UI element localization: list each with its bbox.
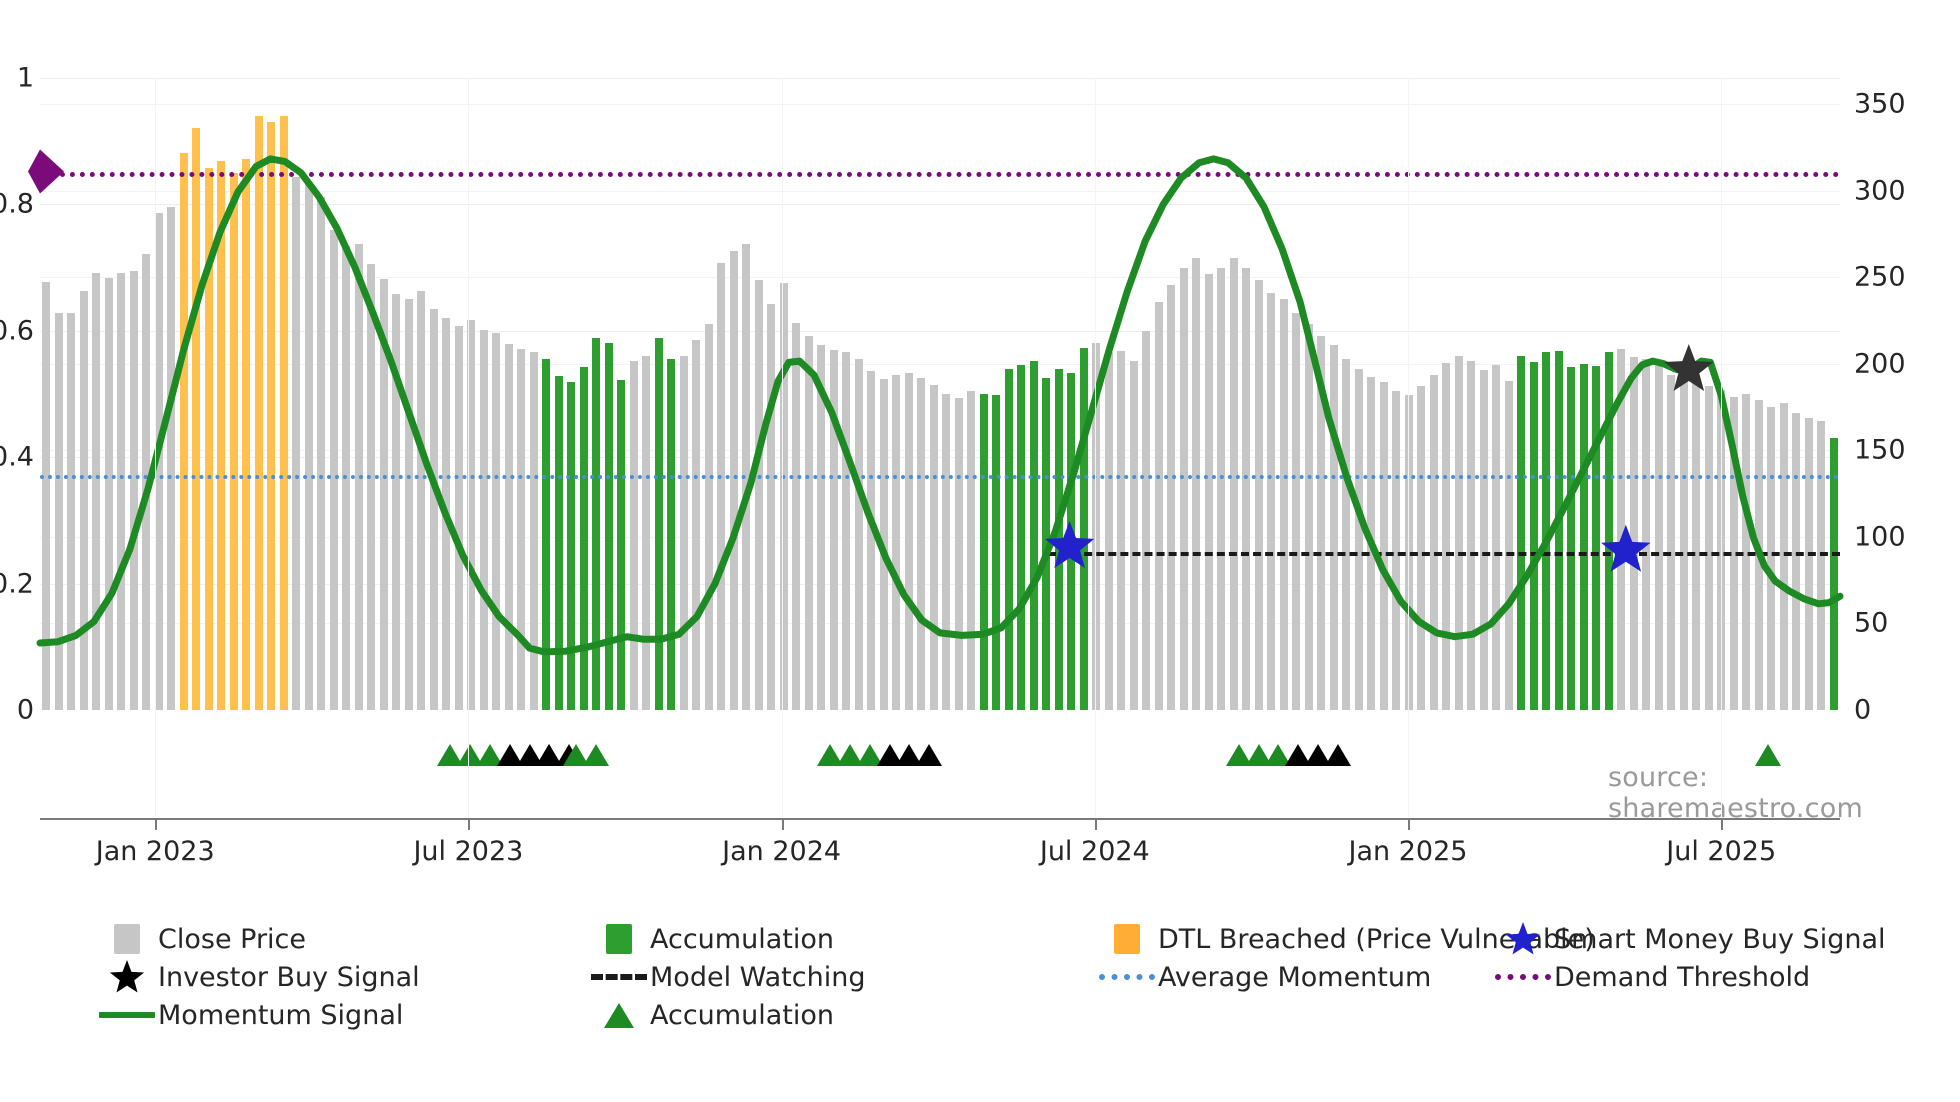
price-bar[interactable] (317, 197, 325, 710)
reference-line-demand-threshold (40, 172, 1840, 177)
price-bar[interactable] (405, 299, 413, 710)
price-bar[interactable] (1442, 363, 1450, 710)
price-bar[interactable] (80, 291, 88, 710)
price-bar[interactable] (517, 349, 525, 711)
price-bar[interactable] (1092, 343, 1100, 710)
x-axis-tick (1721, 818, 1723, 830)
legend-accumulation-marker[interactable]: Accumulation (588, 996, 834, 1034)
price-bar[interactable] (767, 304, 775, 710)
price-bar[interactable] (55, 313, 63, 710)
legend-star-icon (107, 959, 147, 995)
price-bar[interactable] (1105, 352, 1113, 710)
price-bar[interactable] (280, 116, 288, 710)
price-bar[interactable] (692, 340, 700, 710)
price-bar[interactable] (1192, 258, 1200, 710)
price-bar[interactable] (1117, 351, 1125, 710)
x-axis-tick-label: Jul 2025 (1666, 836, 1776, 867)
legend-label: Close Price (158, 924, 306, 955)
price-bar[interactable] (1792, 413, 1800, 710)
price-bar[interactable] (305, 184, 313, 710)
price-bar[interactable] (855, 359, 863, 710)
price-bar[interactable] (567, 382, 575, 710)
accumulation-triangle-marker[interactable] (1325, 744, 1351, 766)
price-bar[interactable] (1492, 365, 1500, 710)
price-bar[interactable] (1242, 268, 1250, 710)
price-bar[interactable] (1592, 366, 1600, 710)
price-bar[interactable] (667, 359, 675, 710)
price-bar[interactable] (867, 371, 875, 710)
price-bar[interactable] (205, 168, 213, 710)
price-bar[interactable] (1542, 352, 1550, 710)
price-bar[interactable] (1267, 293, 1275, 710)
left-axis: 00.20.40.60.81 (0, 78, 38, 710)
gridline-v (782, 78, 783, 818)
accumulation-triangle-marker[interactable] (583, 744, 609, 766)
price-bar[interactable] (1605, 352, 1613, 710)
right-axis-tick: 250 (1854, 262, 1906, 293)
price-bar[interactable] (1517, 356, 1525, 710)
price-bar[interactable] (1342, 359, 1350, 710)
price-bar[interactable] (1330, 345, 1338, 710)
price-bar[interactable] (105, 278, 113, 710)
price-bar[interactable] (817, 345, 825, 710)
price-bar[interactable] (1467, 361, 1475, 710)
right-axis-tick: 350 (1854, 88, 1906, 119)
x-axis-tick-label: Jan 2025 (1349, 836, 1468, 867)
legend-label: Investor Buy Signal (158, 962, 420, 993)
price-bar[interactable] (642, 356, 650, 710)
price-bar[interactable] (1767, 407, 1775, 710)
plot-area (40, 78, 1840, 710)
source-note: source: sharemaestro.com (1608, 762, 1960, 824)
x-axis-tick (1095, 818, 1097, 830)
price-bar[interactable] (1642, 359, 1650, 710)
price-bar[interactable] (630, 361, 638, 710)
price-bar[interactable] (1530, 362, 1538, 710)
right-axis-tick: 150 (1854, 435, 1906, 466)
price-bar[interactable] (142, 254, 150, 710)
right-axis-tick: 0 (1854, 695, 1871, 726)
legend-demand-threshold[interactable]: Demand Threshold (1492, 958, 1810, 996)
left-axis-tick: 0.8 (0, 189, 34, 220)
price-bar[interactable] (755, 280, 763, 710)
price-bar[interactable] (1567, 367, 1575, 710)
chart-legend: Close PriceAccumulationDTL Breached (Pri… (96, 920, 1896, 1034)
price-bar[interactable] (1017, 365, 1025, 710)
x-axis-tick (468, 818, 470, 830)
price-bar[interactable] (930, 385, 938, 710)
legend-smart-money-buy-signal[interactable]: Smart Money Buy Signal (1492, 920, 1886, 958)
price-bar[interactable] (892, 375, 900, 710)
price-bar[interactable] (442, 318, 450, 710)
price-bar[interactable] (1230, 258, 1238, 711)
price-bar[interactable] (580, 367, 588, 710)
price-bar[interactable] (1780, 403, 1788, 710)
price-bar[interactable] (1705, 386, 1713, 710)
gridline-v (1721, 78, 1722, 818)
price-bar[interactable] (1205, 274, 1213, 710)
price-bar[interactable] (1217, 268, 1225, 710)
price-bar[interactable] (67, 313, 75, 710)
legend-row: Close PriceAccumulationDTL Breached (Pri… (96, 920, 1896, 958)
price-bar[interactable] (792, 323, 800, 710)
accumulation-triangle-marker[interactable] (916, 744, 942, 766)
reference-line-average-momentum (40, 475, 1840, 479)
x-axis-tick-label: Jul 2023 (413, 836, 523, 867)
price-bar[interactable] (1030, 361, 1038, 710)
price-bar[interactable] (480, 330, 488, 710)
price-bar[interactable] (917, 378, 925, 710)
price-bar[interactable] (942, 394, 950, 710)
right-axis-tick: 200 (1854, 348, 1906, 379)
price-bar[interactable] (455, 326, 463, 710)
price-bar[interactable] (1255, 280, 1263, 710)
price-bar[interactable] (717, 263, 725, 710)
x-axis-tick (782, 818, 784, 830)
legend-label: Average Momentum (1158, 962, 1431, 993)
legend-average-momentum[interactable]: Average Momentum (1096, 958, 1431, 996)
x-axis-tick-label: Jan 2023 (96, 836, 215, 867)
price-bar[interactable] (1480, 370, 1488, 710)
price-bar[interactable] (192, 128, 200, 710)
legend-row: Momentum SignalAccumulation (96, 996, 1896, 1034)
price-bar[interactable] (880, 379, 888, 710)
price-bar[interactable] (1617, 349, 1625, 711)
price-bar[interactable] (617, 380, 625, 710)
price-bar[interactable] (1317, 336, 1325, 710)
price-bar[interactable] (130, 271, 138, 710)
left-axis-tick: 0.6 (0, 315, 34, 346)
price-bar[interactable] (292, 177, 300, 710)
gridline-v (155, 78, 156, 818)
price-bar[interactable] (1430, 375, 1438, 710)
price-bar[interactable] (1830, 438, 1838, 710)
price-bar[interactable] (180, 153, 188, 710)
price-bar[interactable] (830, 350, 838, 710)
price-bar[interactable] (392, 294, 400, 710)
price-bar[interactable] (1280, 299, 1288, 710)
price-bar[interactable] (842, 352, 850, 710)
x-axis-tick-label: Jan 2024 (722, 836, 841, 867)
price-bar[interactable] (1305, 324, 1313, 710)
legend-investor-buy-signal[interactable]: Investor Buy Signal (96, 958, 420, 996)
price-bar[interactable] (1580, 364, 1588, 710)
price-bar[interactable] (242, 159, 250, 710)
price-bar[interactable] (1417, 386, 1425, 710)
legend-star-icon (1503, 921, 1543, 957)
left-axis-tick: 1 (17, 63, 34, 94)
price-bar[interactable] (1630, 357, 1638, 710)
legend-close-price[interactable]: Close Price (96, 920, 306, 958)
price-bar[interactable] (1680, 371, 1688, 710)
price-bar[interactable] (330, 230, 338, 710)
price-bar[interactable] (1667, 375, 1675, 710)
price-bar[interactable] (905, 373, 913, 710)
left-axis-tick: 0.2 (0, 568, 34, 599)
left-axis-tick: 0 (17, 695, 34, 726)
x-axis-line (40, 818, 1840, 820)
x-axis-tick-label: Jul 2024 (1040, 836, 1150, 867)
price-bar[interactable] (1505, 381, 1513, 710)
legend-dashed-line-icon (591, 974, 647, 980)
price-bar[interactable] (255, 116, 263, 710)
price-bar[interactable] (267, 122, 275, 710)
legend-label: Smart Money Buy Signal (1554, 924, 1886, 955)
price-bar[interactable] (1655, 366, 1663, 710)
price-bar[interactable] (230, 173, 238, 710)
right-axis: 050100150200250300350 (1848, 78, 1958, 710)
legend-label: Model Watching (650, 962, 865, 993)
legend-label: Momentum Signal (158, 1000, 403, 1031)
price-bar[interactable] (1292, 313, 1300, 710)
price-bar[interactable] (1817, 421, 1825, 710)
price-bar[interactable] (1805, 418, 1813, 710)
price-bar[interactable] (1180, 268, 1188, 710)
price-bar[interactable] (655, 338, 663, 710)
price-bar[interactable] (1692, 383, 1700, 710)
legend-row: Investor Buy SignalModel WatchingAverage… (96, 958, 1896, 996)
price-bar[interactable] (505, 344, 513, 710)
price-bar[interactable] (1080, 348, 1088, 710)
price-bar[interactable] (217, 161, 225, 710)
legend-accumulation-bar[interactable]: Accumulation (588, 920, 834, 958)
price-bar[interactable] (1455, 356, 1463, 710)
chart-root: 00.20.40.60.81 050100150200250300350 sou… (0, 0, 1960, 1102)
legend-swatch-icon (606, 924, 632, 954)
price-bar[interactable] (1055, 369, 1063, 710)
price-bar[interactable] (367, 264, 375, 710)
legend-momentum-signal[interactable]: Momentum Signal (96, 996, 403, 1034)
price-bar[interactable] (530, 352, 538, 710)
price-bar[interactable] (542, 359, 550, 710)
price-bar[interactable] (1042, 378, 1050, 710)
price-bar[interactable] (92, 273, 100, 710)
price-bar[interactable] (117, 273, 125, 710)
legend-swatch-icon (1114, 924, 1140, 954)
price-bar[interactable] (1555, 351, 1563, 710)
right-axis-tick: 100 (1854, 521, 1906, 552)
price-bar[interactable] (417, 291, 425, 710)
price-bar[interactable] (555, 376, 563, 710)
legend-swatch-icon (114, 924, 140, 954)
price-bar[interactable] (680, 356, 688, 710)
price-bar[interactable] (980, 394, 988, 710)
price-bar[interactable] (967, 391, 975, 710)
price-bar[interactable] (1355, 369, 1363, 710)
accumulation-marker-row (40, 712, 1840, 772)
price-bar[interactable] (605, 343, 613, 710)
price-bar[interactable] (167, 207, 175, 710)
legend-model-watching[interactable]: Model Watching (588, 958, 865, 996)
legend-dotted-line-icon (1099, 974, 1155, 980)
legend-line-icon (99, 1012, 155, 1018)
price-bar[interactable] (1142, 331, 1150, 710)
price-bar[interactable] (430, 309, 438, 710)
gridline-v (468, 78, 469, 818)
gridline-v (1095, 78, 1096, 818)
legend-label: Accumulation (650, 1000, 834, 1031)
right-axis-tick: 50 (1854, 608, 1888, 639)
price-bar[interactable] (1005, 369, 1013, 710)
legend-dotted-line-icon (1495, 974, 1551, 980)
price-bar[interactable] (1067, 373, 1075, 710)
right-axis-tick: 300 (1854, 175, 1906, 206)
legend-label: Accumulation (650, 924, 834, 955)
price-bar[interactable] (705, 324, 713, 710)
price-bar[interactable] (1130, 361, 1138, 710)
price-bar[interactable] (1380, 382, 1388, 710)
legend-label: Demand Threshold (1554, 962, 1810, 993)
gridline-v (1408, 78, 1409, 818)
price-bar[interactable] (955, 398, 963, 710)
x-axis-tick (155, 818, 157, 830)
price-bar[interactable] (730, 251, 738, 710)
price-bar[interactable] (1155, 302, 1163, 710)
price-bar[interactable] (380, 279, 388, 710)
price-bar[interactable] (592, 338, 600, 710)
price-bar[interactable] (1367, 377, 1375, 710)
price-bar[interactable] (492, 333, 500, 710)
legend-triangle-icon (599, 998, 639, 1032)
price-bar[interactable] (805, 336, 813, 710)
price-bar[interactable] (992, 395, 1000, 710)
x-axis-tick (1408, 818, 1410, 830)
price-bar[interactable] (1392, 391, 1400, 710)
price-bar[interactable] (42, 282, 50, 710)
left-axis-tick: 0.4 (0, 442, 34, 473)
price-bar[interactable] (1167, 285, 1175, 710)
